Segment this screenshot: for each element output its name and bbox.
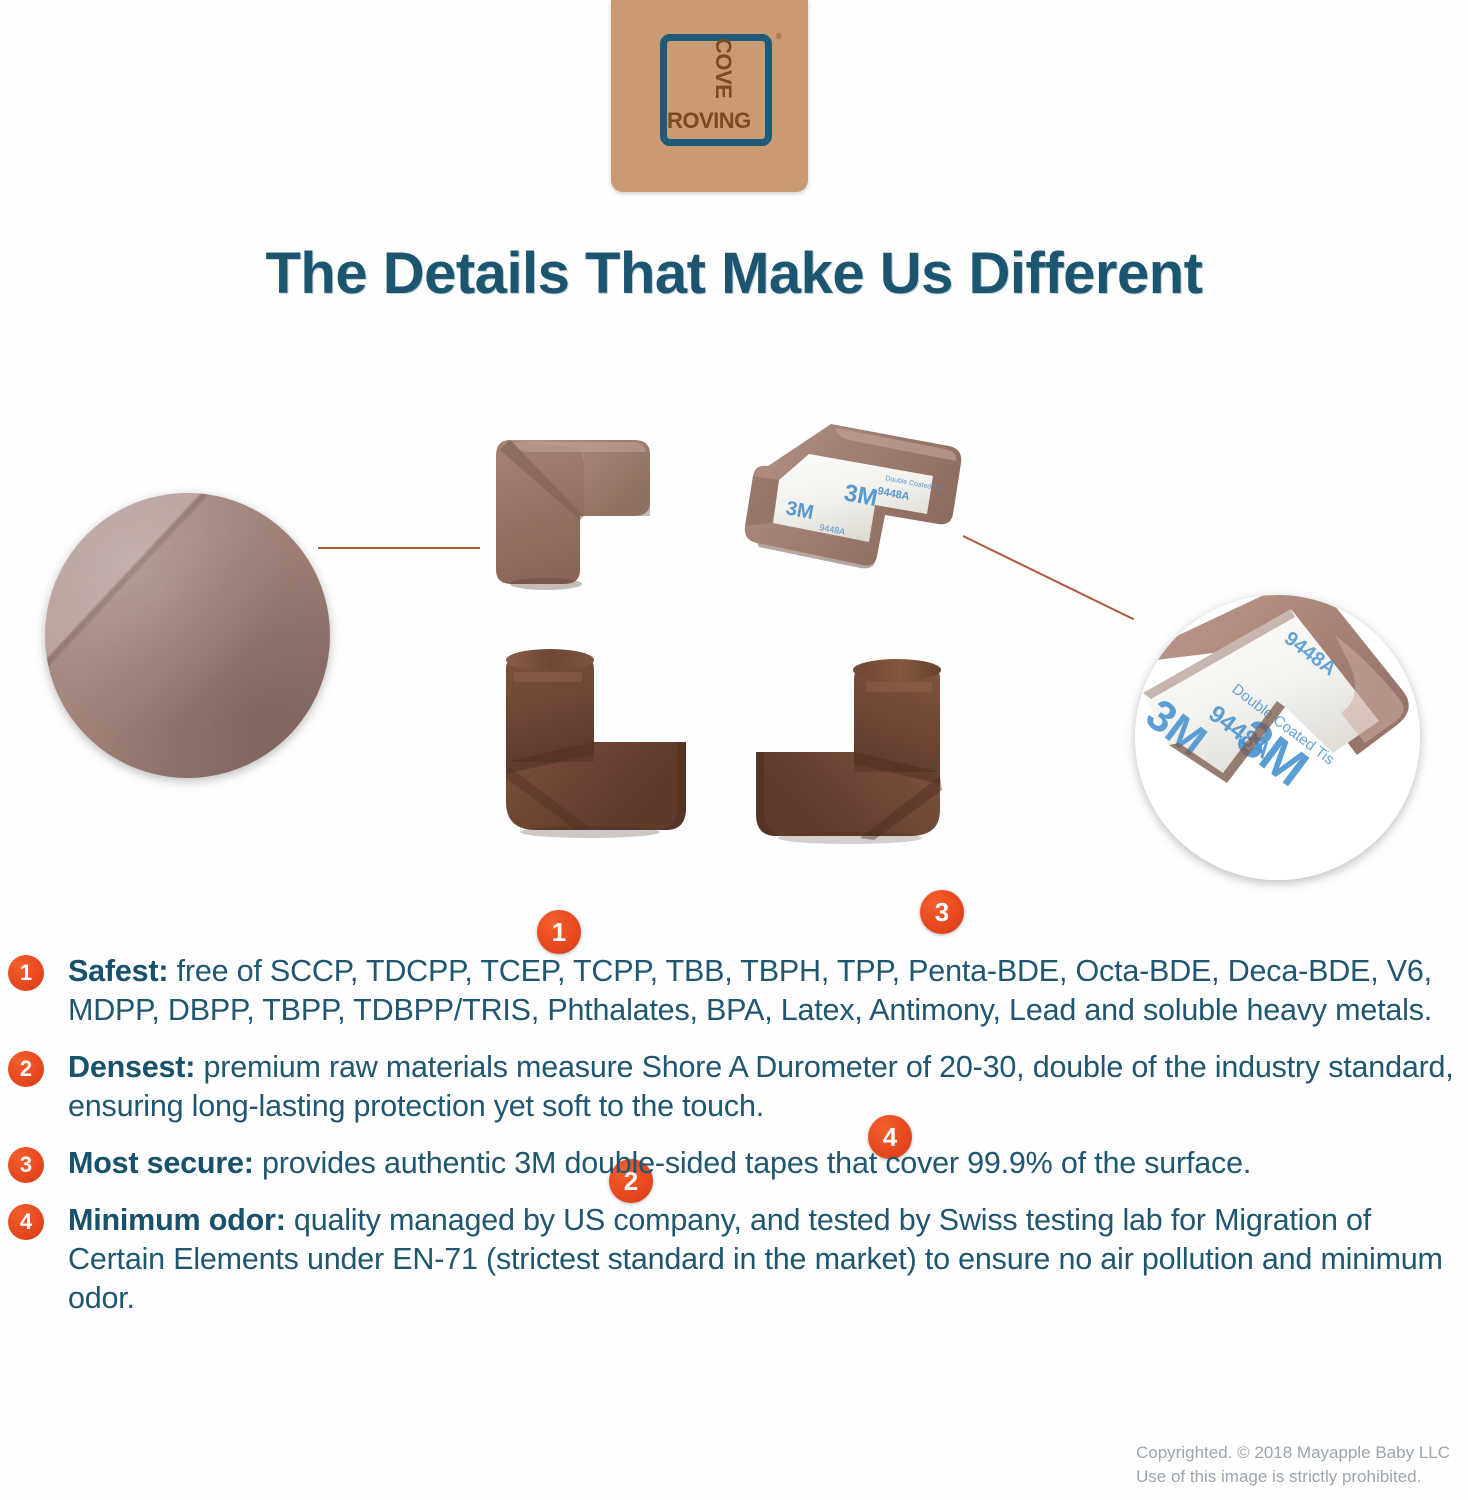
corner-guard-3-with-tape: 3M 9448A Double Coated Tis 3M 9448A (735, 418, 975, 588)
copyright-line-2: Use of this image is strictly prohibited… (1136, 1465, 1450, 1488)
feature-label-2: Densest: (68, 1050, 195, 1084)
feature-label-4: Minimum odor: (68, 1203, 286, 1237)
brand-logo: ROVING COVE ® (611, 0, 808, 192)
feature-text-2: Densest: premium raw materials measure S… (68, 1048, 1460, 1126)
feature-badge-1: 1 (8, 955, 44, 991)
feature-label-1: Safest: (68, 954, 168, 988)
corner-guard-2 (490, 642, 760, 852)
corner-guard-1 (488, 432, 668, 612)
feature-list: 1 Safest: free of SCCP, TDCPP, TCEP, TCP… (8, 952, 1460, 1336)
connector-line-right (963, 535, 1135, 620)
feature-item-2: 2 Densest: premium raw materials measure… (8, 1048, 1460, 1126)
logo-text-roving: ROVING (667, 110, 765, 132)
feature-body-2: premium raw materials measure Shore A Du… (68, 1050, 1454, 1123)
copyright-notice: Copyrighted. © 2018 Mayapple Baby LLC Us… (1136, 1441, 1450, 1488)
tape-closeup-art: 3M 9448A Double Coated Tis 3M 9448A (1135, 595, 1420, 880)
corner-guard-4 (740, 652, 970, 852)
registered-trademark-icon: ® (776, 32, 782, 41)
product-illustration-stage: 3M 9448A Double Coated Tis 3M 9448A (0, 390, 1468, 900)
feature-label-3: Most secure: (68, 1146, 254, 1180)
feature-item-4: 4 Minimum odor: quality managed by US co… (8, 1201, 1460, 1318)
feature-item-1: 1 Safest: free of SCCP, TDCPP, TCEP, TCP… (8, 952, 1460, 1030)
feature-body-3: provides authentic 3M double-sided tapes… (254, 1146, 1251, 1180)
feature-badge-3: 3 (8, 1147, 44, 1183)
feature-body-1: free of SCCP, TDCPP, TCEP, TCPP, TBB, TB… (68, 954, 1432, 1027)
copyright-line-1: Copyrighted. © 2018 Mayapple Baby LLC (1136, 1441, 1450, 1464)
feature-text-3: Most secure: provides authentic 3M doubl… (68, 1144, 1460, 1183)
callout-badge-3: 3 (920, 890, 964, 934)
feature-text-4: Minimum odor: quality managed by US comp… (68, 1201, 1460, 1318)
page-title: The Details That Make Us Different (0, 240, 1468, 307)
connector-line-left (318, 547, 480, 549)
foam-surface-closeup-circle (45, 493, 330, 778)
foam-texture-overlay (45, 493, 330, 778)
logo-text-cove: COVE (712, 38, 734, 98)
feature-badge-2: 2 (8, 1051, 44, 1087)
tape-closeup-circle: 3M 9448A Double Coated Tis 3M 9448A (1135, 595, 1420, 880)
callout-badge-1: 1 (537, 910, 581, 954)
feature-item-3: 3 Most secure: provides authentic 3M dou… (8, 1144, 1460, 1183)
feature-text-1: Safest: free of SCCP, TDCPP, TCEP, TCPP,… (68, 952, 1460, 1030)
feature-badge-4: 4 (8, 1204, 44, 1240)
